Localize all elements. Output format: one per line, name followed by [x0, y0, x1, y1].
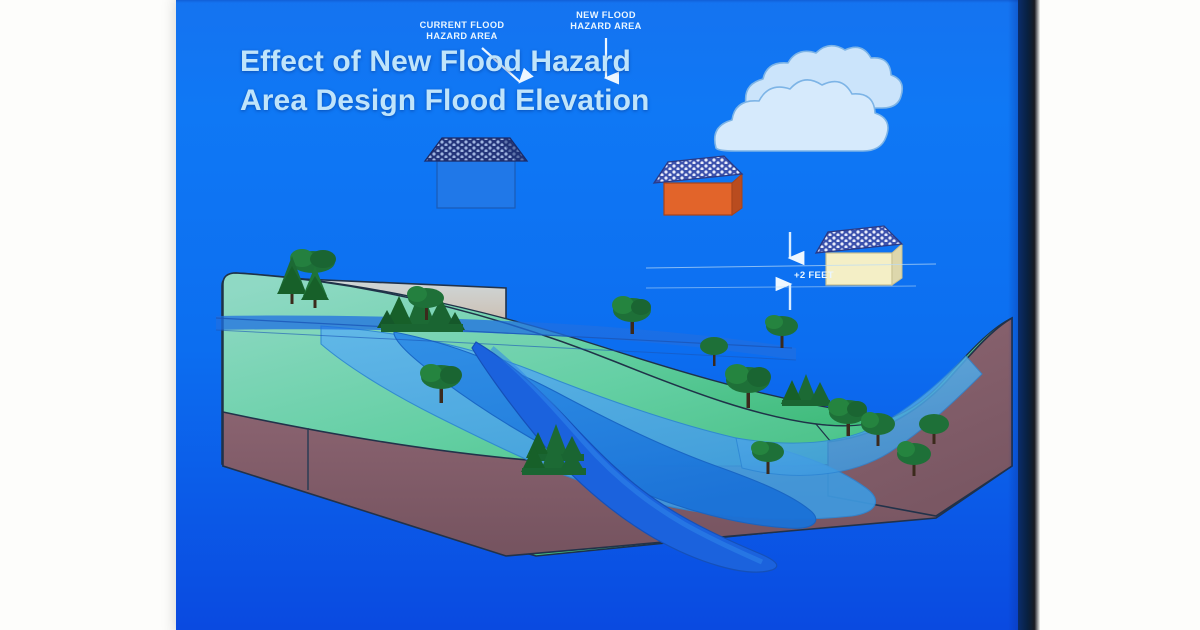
- new-flood-label-line-1: NEW FLOOD: [576, 10, 636, 20]
- house-left-submerged: [425, 138, 527, 208]
- new-flood-hazard-label: NEW FLOOD HAZARD AREA: [570, 10, 641, 31]
- current-flood-hazard-label: CURRENT FLOOD HAZARD AREA: [420, 20, 505, 41]
- house-middle-orange: [654, 156, 742, 215]
- presentation-slide: Effect of New Flood Hazard Area Design F…: [176, 0, 1024, 630]
- slide-title-line-2: Area Design Flood Elevation: [240, 84, 649, 117]
- current-flood-label-line-1: CURRENT FLOOD: [420, 20, 505, 30]
- slide-top-edge-shading: [176, 0, 1024, 3]
- photo-frame: Effect of New Flood Hazard Area Design F…: [0, 0, 1200, 630]
- slide-title: Effect of New Flood Hazard Area Design F…: [240, 42, 649, 120]
- projector-screen-right-edge: [1018, 0, 1040, 630]
- tree-deciduous-icon: [700, 337, 728, 366]
- slide-title-line-1: Effect of New Flood Hazard: [240, 45, 631, 78]
- new-flood-label-line-2: HAZARD AREA: [570, 21, 641, 31]
- tree-conifer-cluster-icon: [781, 374, 831, 406]
- elevation-increase-label: +2 FEET: [794, 270, 834, 281]
- current-flood-label-line-2: HAZARD AREA: [426, 31, 497, 41]
- tree-deciduous-icon: [765, 315, 798, 348]
